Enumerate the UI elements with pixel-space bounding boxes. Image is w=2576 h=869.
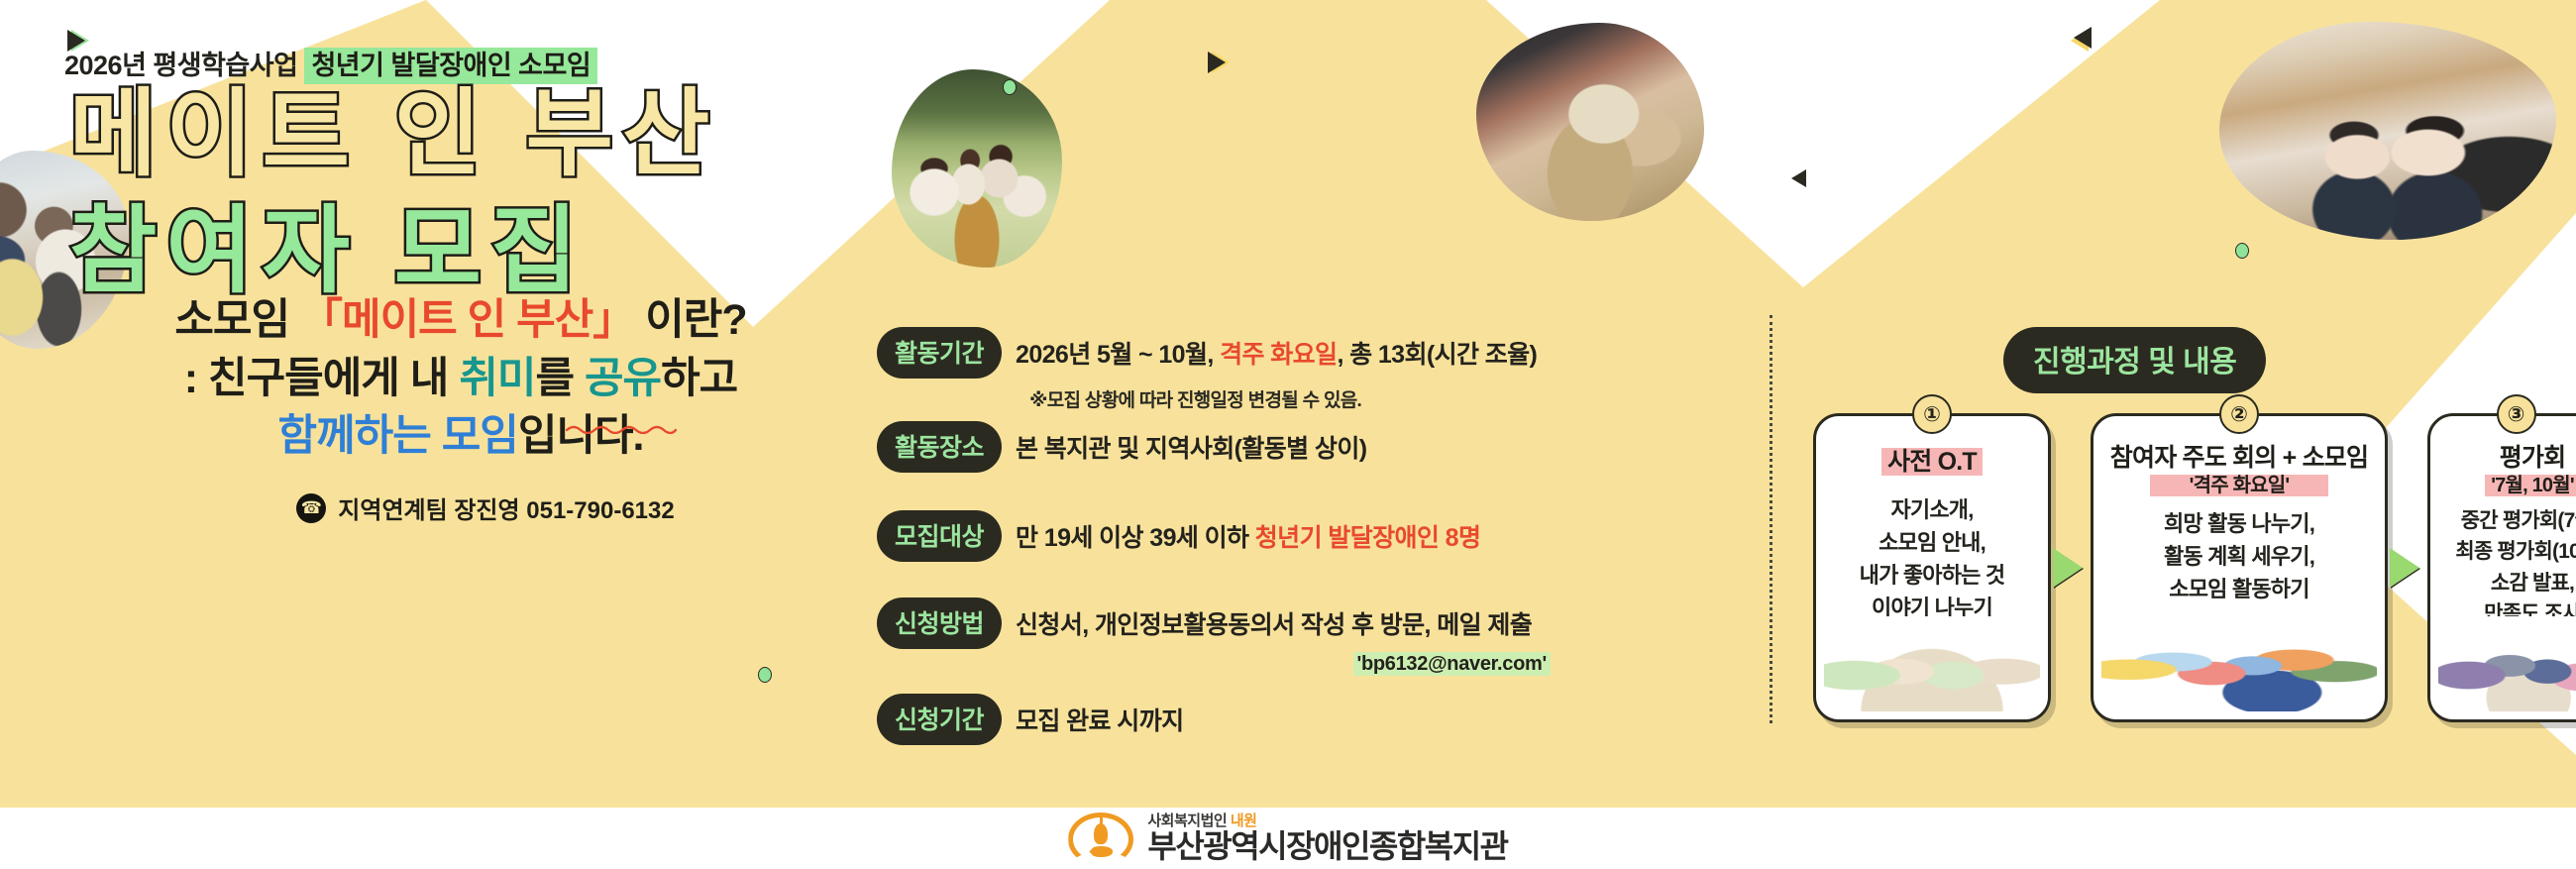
info-row-period: 활동기간 2026년 5월 ~ 10월, 격주 화요일, 총 13회(시간 조율… bbox=[877, 327, 1590, 379]
info-row-method: 신청방법 신청서, 개인정보활용동의서 작성 후 방문, 메일 제출 bbox=[877, 597, 1590, 649]
evaluation-illustration bbox=[2438, 616, 2576, 711]
subhead3-b: 입니다. bbox=[518, 412, 644, 460]
subhead2-e: 하고 bbox=[661, 355, 737, 402]
red-squiggle-underline bbox=[566, 424, 677, 434]
footer-org-text: 사회복지법인 내원 부산광역시장애인종합복지관 bbox=[1147, 814, 1507, 864]
contact-line: ☎ 지역연계팀 장진영 051-790-6132 bbox=[119, 490, 852, 525]
process-card-body-3: 중간 평가회(7월), 최종 평가회(10월), 소감 발표, 만족도 조사 bbox=[2430, 505, 2576, 630]
process-card-body-2: 희망 활동 나누기, 활동 계획 세우기, 소모임 활동하기 bbox=[2093, 507, 2385, 605]
info-value-deadline: 모집 완료 시까지 bbox=[1016, 694, 1184, 737]
subhead2-d: 공유 bbox=[585, 355, 661, 402]
footer-org-prefix: 사회복지법인 bbox=[1147, 813, 1230, 829]
play-triangle-icon-3 bbox=[2074, 27, 2092, 49]
info-block: 활동기간 2026년 5월 ~ 10월, 격주 화요일, 총 13회(시간 조율… bbox=[877, 327, 1590, 745]
vertical-divider bbox=[1770, 315, 1772, 723]
tagline: 2026년 평생학습사업 청년기 발달장애인 소모임 bbox=[64, 44, 597, 82]
target-text: 만 19세 이상 39세 이하 bbox=[1016, 524, 1255, 552]
subhead1-b: 「메이트 인 부산」 bbox=[300, 296, 634, 344]
info-label-target: 모집대상 bbox=[877, 510, 1002, 562]
process-card-sub-3: '7월, 10월' bbox=[2430, 474, 2576, 497]
info-label-period: 활동기간 bbox=[877, 327, 1002, 379]
info-row-deadline: 신청기간 모집 완료 시까지 bbox=[877, 694, 1590, 745]
play-triangle-icon-2 bbox=[1208, 52, 1226, 73]
process-card-2: ② 참여자 주도 회의 + 소모임 '격주 화요일' 희망 활동 나누기, 활동… bbox=[2091, 413, 2388, 722]
info-label-place: 활동장소 bbox=[877, 421, 1002, 473]
play-triangle-icon-4 bbox=[1791, 169, 1806, 187]
contact-text: 지역연계팀 장진영 051-790-6132 bbox=[338, 490, 674, 525]
meeting-illustration bbox=[1824, 616, 2040, 711]
period-text-after: , 총 13회(시간 조율) bbox=[1337, 341, 1537, 369]
period-accent: 격주 화요일 bbox=[1220, 341, 1337, 369]
subhead2-a: : 친구들에게 내 bbox=[184, 355, 460, 402]
info-label-deadline: 신청기간 bbox=[877, 694, 1002, 745]
email-text: 'bp6132@naver.com' bbox=[1353, 652, 1552, 676]
subhead-line2: : 친구들에게 내 취미를 공유하고 bbox=[69, 349, 852, 409]
page-title-line2: 참여자 모집 bbox=[69, 204, 587, 299]
process-step-badge-2: ② bbox=[2219, 394, 2259, 434]
target-accent: 청년기 발달장애인 8명 bbox=[1255, 524, 1481, 552]
tagline-plain: 2026년 평생학습사업 bbox=[64, 51, 304, 80]
green-dot-1 bbox=[1003, 79, 1017, 95]
logo-bell-shape bbox=[1094, 823, 1108, 844]
photo-cafe-baristas bbox=[2219, 22, 2556, 240]
subhead-line3: 함께하는 모임입니다. bbox=[69, 406, 852, 467]
subhead3-a: 함께하는 모임 bbox=[278, 412, 518, 460]
info-value-period: 2026년 5월 ~ 10월, 격주 화요일, 총 13회(시간 조율) bbox=[1016, 327, 1537, 371]
process-card-3: ③ 평가회 '7월, 10월' 중간 평가회(7월), 최종 평가회(10월),… bbox=[2427, 413, 2576, 722]
green-dot-3 bbox=[758, 667, 772, 683]
info-row-place: 활동장소 본 복지관 및 지역사회(활동별 상이) bbox=[877, 421, 1590, 473]
footer-org-name: 부산광역시장애인종합복지관 bbox=[1147, 829, 1507, 864]
process-step-badge-3: ③ bbox=[2497, 394, 2536, 434]
info-value-method: 신청서, 개인정보활용동의서 작성 후 방문, 메일 제출 bbox=[1016, 597, 1532, 641]
footer-org-prefix-line: 사회복지법인 내원 bbox=[1147, 814, 1507, 829]
busan-welfare-center-logo bbox=[1068, 811, 1133, 866]
photo-pottery-hands bbox=[1476, 23, 1704, 221]
process-card-1: ① 사전 O.T 자기소개, 소모임 안내, 내가 좋아하는 것 이야기 나누기 bbox=[1813, 413, 2051, 722]
arrow-right-icon-1 bbox=[2053, 548, 2083, 588]
green-dot-2 bbox=[2235, 243, 2249, 259]
teamwork-illustration bbox=[2101, 616, 2377, 711]
subhead2-b: 취미 bbox=[459, 355, 535, 402]
arrow-right-icon-2 bbox=[2390, 548, 2419, 588]
period-text: 2026년 5월 ~ 10월, bbox=[1016, 341, 1220, 369]
subhead-line1: 소모임 「메이트 인 부산」 이란? bbox=[69, 290, 852, 351]
poster-canvas: 2026년 평생학습사업 청년기 발달장애인 소모임 메이트 인 부산 참여자 … bbox=[0, 0, 2576, 869]
subhead1-a: 소모임 bbox=[174, 296, 300, 344]
subhead2-c: 를 bbox=[535, 355, 585, 402]
process-card-head-1: 사전 O.T bbox=[1816, 448, 2048, 478]
subhead1-c: 이란? bbox=[634, 296, 746, 344]
page-title-line1: 메이트 인 부산 bbox=[69, 87, 718, 182]
tagline-highlight: 청년기 발달장애인 소모임 bbox=[304, 48, 597, 84]
info-value-target: 만 19세 이상 39세 이하 청년기 발달장애인 8명 bbox=[1016, 510, 1480, 554]
footer-org-brand: 내원 bbox=[1231, 813, 1257, 829]
info-email: 'bp6132@naver.com' bbox=[877, 653, 1551, 676]
process-card-sub-2: '격주 화요일' bbox=[2093, 474, 2385, 497]
info-label-method: 신청방법 bbox=[877, 597, 1002, 649]
info-value-place: 본 복지관 및 지역사회(활동별 상이) bbox=[1016, 421, 1366, 465]
process-title: 진행과정 및 내용 bbox=[2003, 327, 2266, 393]
footer: 사회복지법인 내원 부산광역시장애인종합복지관 bbox=[0, 808, 2576, 869]
phone-icon: ☎ bbox=[296, 493, 326, 523]
info-note: ※모집 상황에 따라 진행일정 변경될 수 있음. bbox=[1029, 385, 1590, 412]
process-card-body-1: 자기소개, 소모임 안내, 내가 좋아하는 것 이야기 나누기 bbox=[1816, 493, 2048, 624]
info-row-target: 모집대상 만 19세 이상 39세 이하 청년기 발달장애인 8명 bbox=[877, 510, 1590, 562]
process-card-head-3: 평가회 bbox=[2430, 444, 2576, 474]
photo-picnic-friends bbox=[892, 69, 1062, 268]
process-step-badge-1: ① bbox=[1912, 394, 1952, 434]
process-card-head-2: 참여자 주도 회의 + 소모임 bbox=[2093, 444, 2385, 474]
